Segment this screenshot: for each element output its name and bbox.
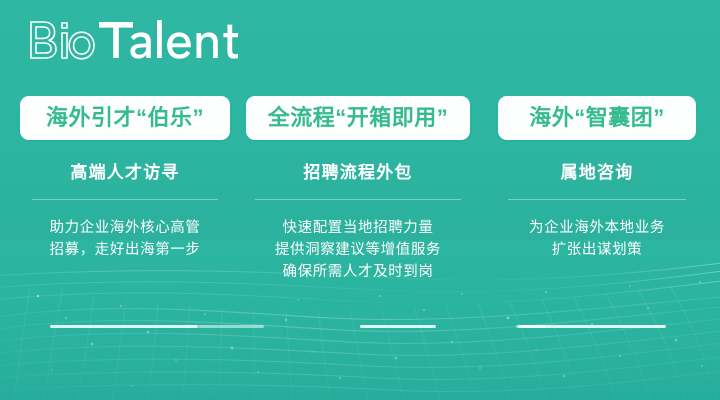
feature-card-1: 海外引才“伯乐” 高端人才访寻 助力企业海外核心高管 招募，走好出海第一步	[20, 96, 230, 261]
card-2-title-pill[interactable]: 全流程“开箱即用”	[246, 96, 470, 140]
card-1-title-pill[interactable]: 海外引才“伯乐”	[20, 96, 230, 140]
card-2-body-line: 提供洞察建议等增值服务	[246, 239, 470, 261]
card-2-body-line: 快速配置当地招聘力量	[246, 217, 470, 239]
card-3-body-line: 扩张出谋划策	[498, 239, 696, 261]
card-1-divider	[32, 199, 218, 200]
card-3-body: 为企业海外本地业务 扩张出谋划策	[498, 217, 696, 261]
feature-cards: 海外引才“伯乐” 高端人才访寻 助力企业海外核心高管 招募，走好出海第一步 全流…	[0, 0, 720, 400]
card-1-subtitle: 高端人才访寻	[20, 158, 230, 183]
card-1-body: 助力企业海外核心高管 招募，走好出海第一步	[20, 217, 230, 261]
card-2-body: 快速配置当地招聘力量 提供洞察建议等增值服务 确保所需人才及时到岗	[246, 217, 470, 283]
feature-card-3: 海外“智囊团” 属地咨询 为企业海外本地业务 扩张出谋划策	[498, 96, 696, 261]
feature-card-2: 全流程“开箱即用” 招聘流程外包 快速配置当地招聘力量 提供洞察建议等增值服务 …	[246, 96, 470, 283]
card-1-body-line: 助力企业海外核心高管	[20, 217, 230, 239]
card-2-body-line: 确保所需人才及时到岗	[246, 261, 470, 283]
card-3-title-pill[interactable]: 海外“智囊团”	[498, 96, 696, 140]
card-2-subtitle: 招聘流程外包	[246, 158, 470, 183]
card-2-divider	[255, 199, 461, 200]
card-1-body-line: 招募，走好出海第一步	[20, 239, 230, 261]
card-3-body-line: 为企业海外本地业务	[498, 217, 696, 239]
card-3-divider	[508, 199, 686, 200]
card-3-subtitle: 属地咨询	[498, 158, 696, 183]
poster-canvas: 海外引才“伯乐” 高端人才访寻 助力企业海外核心高管 招募，走好出海第一步 全流…	[0, 0, 720, 400]
